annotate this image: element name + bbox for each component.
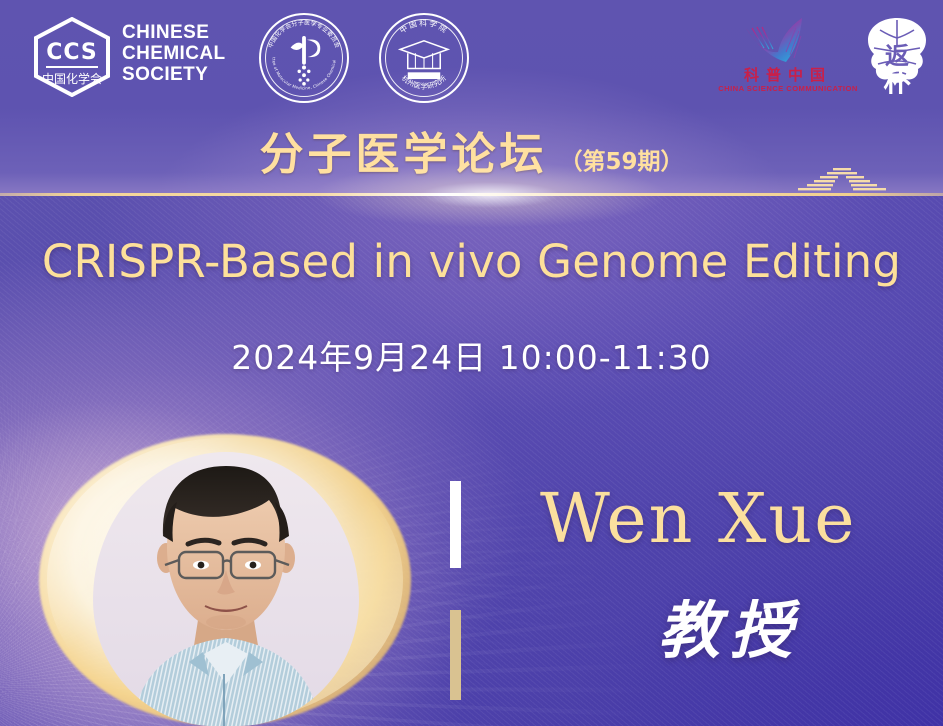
gold-divider-line xyxy=(0,193,943,196)
svg-text:朴: 朴 xyxy=(883,66,911,94)
molecular-medicine-seal-icon: 中国化学会分子医学专业委员会 Committee of Molecular Me… xyxy=(259,13,349,103)
accent-bar-white xyxy=(450,481,461,568)
ccs-wordmark-line3: SOCIETY xyxy=(122,64,225,85)
logo-strip: CCS 中国化学会 CHINESE CHEMICAL SOCIETY 中国化学会… xyxy=(0,0,943,108)
china-science-communication-logo: 科普中国 CHINA SCIENCE COMMUNICATION xyxy=(718,12,858,98)
ccs-wordmark: CHINESE CHEMICAL SOCIETY xyxy=(122,22,225,85)
svg-text:中国科学院: 中国科学院 xyxy=(398,18,451,36)
csc-chinese-label: 科普中国 xyxy=(718,64,858,85)
svg-text:中国化学会: 中国化学会 xyxy=(42,71,102,86)
event-poster: CCS 中国化学会 CHINESE CHEMICAL SOCIETY 中国化学会… xyxy=(0,0,943,726)
swoosh-mark-icon xyxy=(740,14,840,66)
ccs-wordmark-line2: CHEMICAL xyxy=(122,43,225,64)
talk-datetime: 2024年9月24日 10:00-11:30 xyxy=(0,331,943,379)
talk-title: CRISPR-Based in vivo Genome Editing xyxy=(0,235,943,288)
stepped-arch-ornament-icon xyxy=(787,165,897,195)
speaker-portrait xyxy=(39,434,411,726)
speaker-name: Wen Xue xyxy=(540,480,900,559)
svg-text:CCS: CCS xyxy=(46,40,98,65)
ccs-wordmark-line1: CHINESE xyxy=(122,22,225,43)
accent-bar-gold xyxy=(450,610,461,700)
speaker-role: 教授 xyxy=(580,580,880,670)
csc-english-label: CHINA SCIENCE COMMUNICATION xyxy=(718,84,858,93)
hangzhou-institute-seal-icon: 中国科学院 杭州医学研究所 博士后联谊会 xyxy=(379,13,469,103)
ccs-hexagon-icon: CCS 中国化学会 xyxy=(33,17,111,97)
fanpu-brain-logo-icon: 返 朴 xyxy=(862,14,932,94)
